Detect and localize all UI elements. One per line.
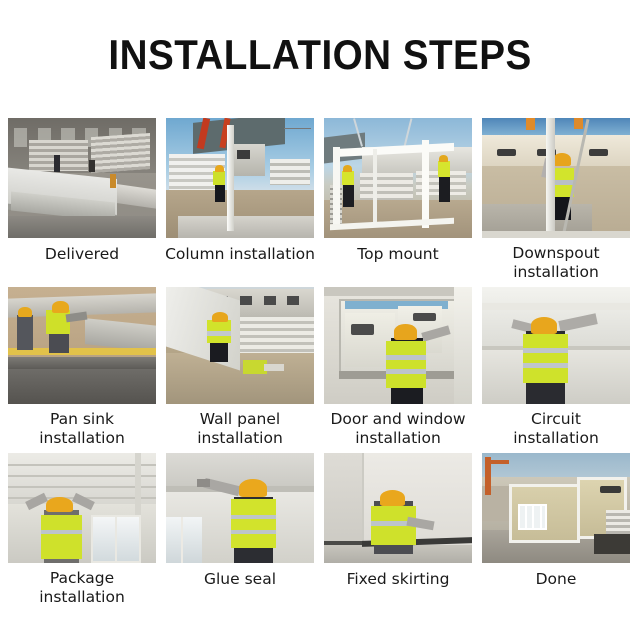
caption-line-1: Top mount	[357, 245, 438, 263]
step-photo-delivered	[8, 118, 156, 238]
step-cell-delivered[interactable]: Delivered	[8, 118, 156, 287]
step-photo-downspout-installation	[482, 118, 630, 238]
step-cell-glue-seal[interactable]: Glue seal	[166, 453, 314, 612]
caption-line-1: Delivered	[45, 245, 119, 263]
step-photo-wall-panel-installation	[166, 287, 314, 404]
caption-line-2: installation	[355, 429, 441, 447]
step-cell-done[interactable]: Done	[482, 453, 630, 612]
steps-row-1: Delivered Column installation	[8, 118, 632, 287]
step-caption-done: Done	[472, 563, 640, 606]
page-title: INSTALLATION STEPS	[108, 34, 531, 76]
caption-line-2: installation	[39, 429, 125, 447]
step-photo-column-installation	[166, 118, 314, 238]
step-cell-top-mount[interactable]: Top mount	[324, 118, 472, 287]
step-cell-downspout-installation[interactable]: Downspout installation	[482, 118, 630, 287]
steps-row-3: Package installation Glue seal	[8, 453, 632, 612]
caption-line-2: installation	[513, 429, 599, 447]
step-photo-door-and-window-installation	[324, 287, 472, 404]
caption-line-1: Glue seal	[204, 570, 276, 588]
step-cell-wall-panel-installation[interactable]: Wall panel installation	[166, 287, 314, 453]
caption-line-1: Pan sink	[50, 410, 114, 428]
caption-line-1: Circuit	[531, 410, 581, 428]
installation-steps-infographic: INSTALLATION STEPS Delivered	[0, 0, 640, 640]
step-cell-column-installation[interactable]: Column installation	[166, 118, 314, 287]
caption-line-2: installation	[39, 588, 125, 606]
step-photo-top-mount	[324, 118, 472, 238]
step-caption-pan-sink-installation: Pan sink installation	[0, 404, 166, 453]
step-cell-circuit-installation[interactable]: Circuit installation	[482, 287, 630, 453]
caption-line-2: installation	[197, 429, 283, 447]
step-photo-glue-seal	[166, 453, 314, 563]
step-photo-circuit-installation	[482, 287, 630, 404]
step-caption-glue-seal: Glue seal	[156, 563, 324, 606]
caption-line-1: Column installation	[165, 245, 315, 263]
page-title-bar: INSTALLATION STEPS	[0, 34, 640, 76]
step-photo-fixed-skirting	[324, 453, 472, 563]
step-cell-package-installation[interactable]: Package installation	[8, 453, 156, 612]
step-cell-door-and-window-installation[interactable]: Door and window installation	[324, 287, 472, 453]
steps-row-2: Pan sink installation Wall panel install…	[8, 287, 632, 453]
step-caption-package-installation: Package installation	[0, 563, 166, 612]
caption-line-1: Fixed skirting	[347, 570, 450, 588]
step-photo-done	[482, 453, 630, 563]
step-photo-package-installation	[8, 453, 156, 563]
step-cell-fixed-skirting[interactable]: Fixed skirting	[324, 453, 472, 612]
step-caption-downspout-installation: Downspout installation	[472, 238, 640, 287]
caption-line-1: Door and window	[330, 410, 465, 428]
step-photo-pan-sink-installation	[8, 287, 156, 404]
caption-line-1: Downspout	[512, 244, 599, 262]
step-caption-top-mount: Top mount	[314, 238, 482, 281]
step-caption-column-installation: Column installation	[156, 238, 324, 281]
step-caption-circuit-installation: Circuit installation	[472, 404, 640, 453]
caption-line-2: installation	[513, 263, 599, 281]
step-caption-fixed-skirting: Fixed skirting	[314, 563, 482, 606]
steps-grid: Delivered Column installation	[8, 118, 632, 612]
step-cell-pan-sink-installation[interactable]: Pan sink installation	[8, 287, 156, 453]
caption-line-1: Done	[536, 570, 577, 588]
step-caption-wall-panel-installation: Wall panel installation	[156, 404, 324, 453]
step-caption-delivered: Delivered	[0, 238, 166, 281]
caption-line-1: Package	[50, 569, 114, 587]
step-caption-door-and-window-installation: Door and window installation	[314, 404, 482, 453]
caption-line-1: Wall panel	[200, 410, 280, 428]
